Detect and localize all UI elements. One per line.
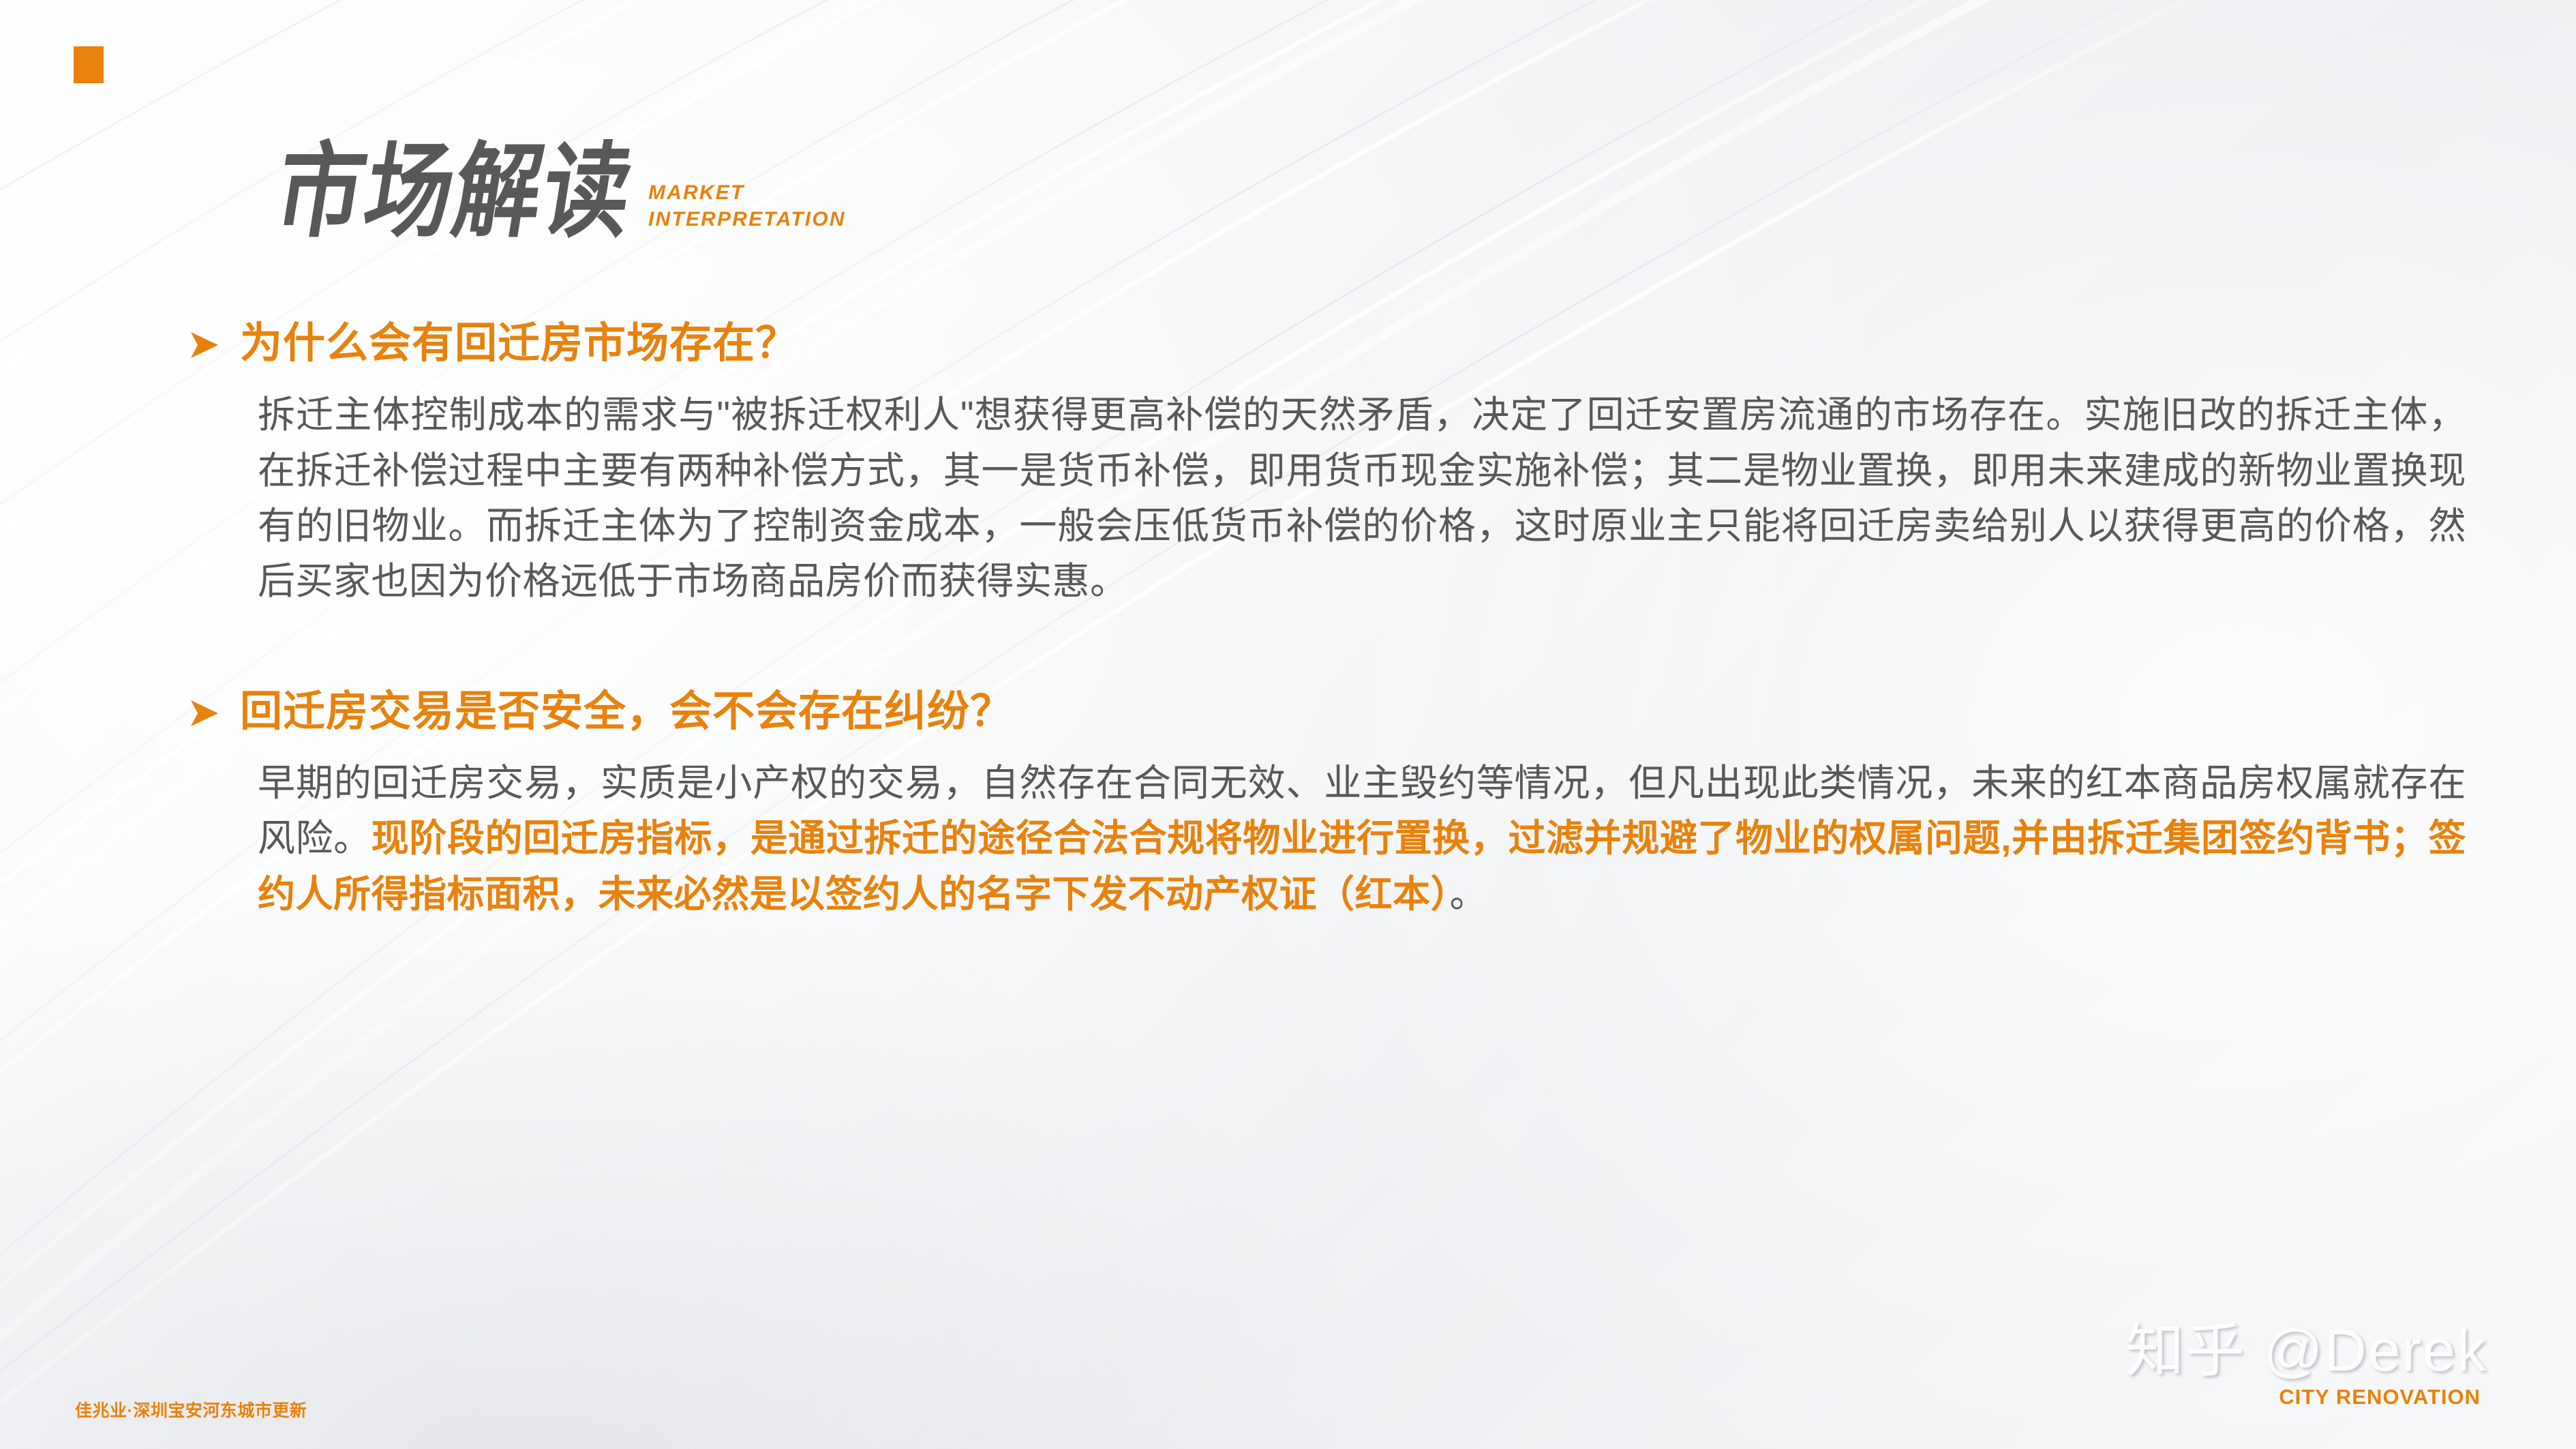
slide-root: 市场解读 MARKET INTERPRETATION 为什么会有回迁房市场存在？… [0,0,2576,1449]
arrow-bullet-icon [184,325,224,365]
qa-heading-2: 回迁房交易是否安全，会不会存在纠纷？ [184,689,2474,735]
qa-body-1: 拆迁主体控制成本的需求与"被拆迁权利人"想获得更高补偿的天然矛盾，决定了回迁安置… [258,387,2466,610]
qa-body-2-tail: 。 [1450,873,1488,915]
arrow-bullet-icon [184,693,224,733]
brand-tag: CITY RENOVATION [2279,1385,2481,1409]
zhihu-watermark: 知乎 @Derek [2125,1302,2487,1388]
qa-section-1: 为什么会有回迁房市场存在？ 拆迁主体控制成本的需求与"被拆迁权利人"想获得更高补… [184,320,2474,610]
page-title: 市场解读 MARKET INTERPRETATION [269,157,846,244]
page-title-en-line1: MARKET [648,179,846,207]
qa-heading-2-text: 回迁房交易是否安全，会不会存在纠纷？ [240,689,1013,735]
footer-project-label: 佳兆业·深圳宝安河东城市更新 [75,1397,307,1422]
page-title-en: MARKET INTERPRETATION [648,179,846,233]
qa-body-2-highlight: 现阶段的回迁房指标，是通过拆迁的途径合法合规将物业进行置换，过滤并规避了物业的权… [258,817,2466,914]
qa-heading-1-text: 为什么会有回迁房市场存在？ [240,320,798,367]
qa-body-2: 早期的回迁房交易，实质是小产权的交易，自然存在合同无效、业主毁约等情况，但凡出现… [258,756,2466,922]
content-area: 为什么会有回迁房市场存在？ 拆迁主体控制成本的需求与"被拆迁权利人"想获得更高补… [184,320,2474,957]
page-title-en-line2: INTERPRETATION [648,206,846,233]
qa-section-2: 回迁房交易是否安全，会不会存在纠纷？ 早期的回迁房交易，实质是小产权的交易，自然… [184,689,2474,922]
section-spacer [184,645,2474,689]
qa-heading-1: 为什么会有回迁房市场存在？ [184,320,2474,367]
orange-square-mark [74,46,104,83]
page-title-cn: 市场解读 [269,141,640,244]
